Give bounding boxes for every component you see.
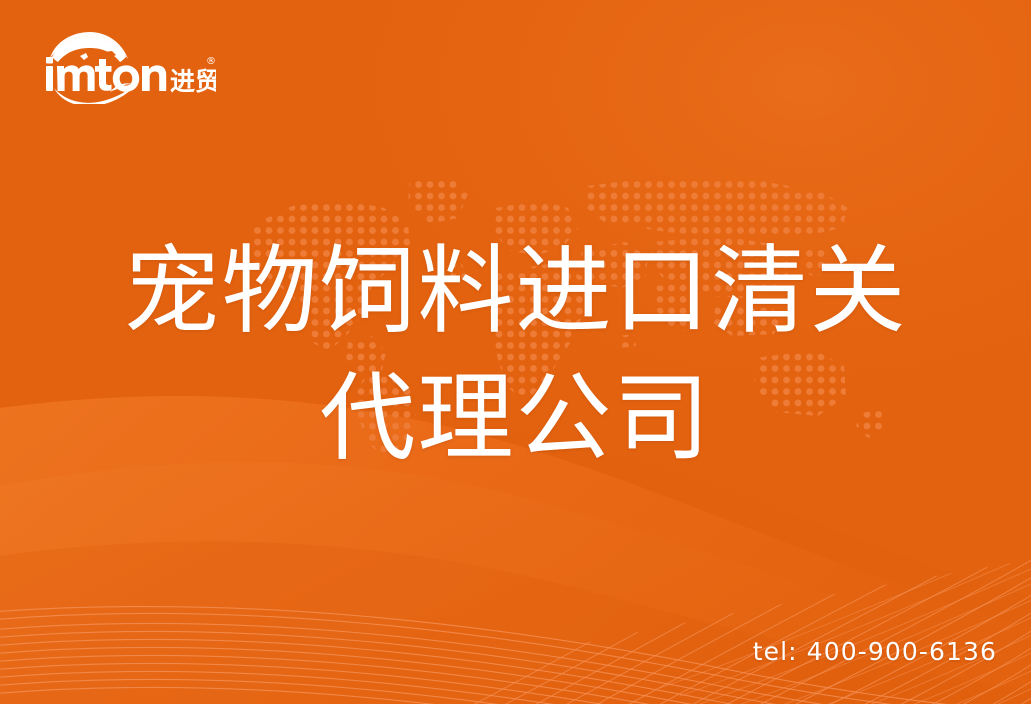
contact-phone[interactable]: tel: 400-900-6136 <box>753 637 997 666</box>
company-logo[interactable]: 进贸通 ® <box>36 26 216 104</box>
banner-root: 进贸通 ® 宠物饲料进口清关 代理公司 tel: 400-900-6136 <box>0 0 1031 704</box>
logo-chinese-name: 进贸通 <box>170 67 216 96</box>
page-title: 宠物饲料进口清关 代理公司 <box>0 228 1031 481</box>
globe-arc-icon <box>50 32 128 62</box>
logo-wordmark <box>46 57 166 92</box>
headline-line-1: 宠物饲料进口清关 <box>0 228 1031 355</box>
headline-line-2: 代理公司 <box>0 355 1031 482</box>
trademark-icon: ® <box>206 56 216 67</box>
